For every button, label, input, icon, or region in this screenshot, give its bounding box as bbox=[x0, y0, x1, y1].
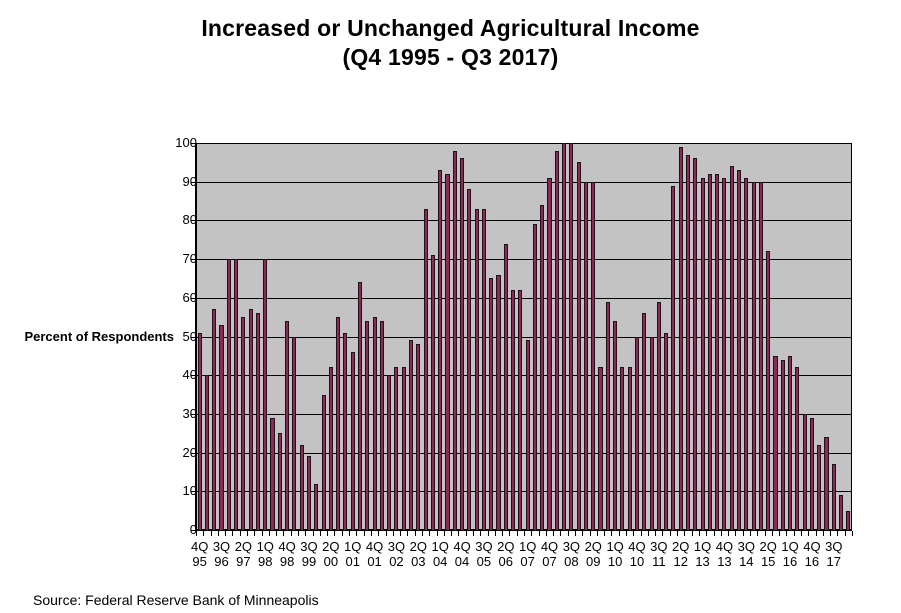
bar bbox=[424, 209, 428, 530]
chart-title-line-1: Increased or Unchanged Agricultural Inco… bbox=[0, 14, 901, 43]
x-tick bbox=[641, 531, 642, 536]
x-tick bbox=[386, 531, 387, 536]
x-tick bbox=[488, 531, 489, 536]
x-tick bbox=[502, 531, 503, 536]
bar bbox=[387, 375, 391, 530]
bar bbox=[518, 290, 522, 530]
x-tick bbox=[845, 531, 846, 536]
x-tick bbox=[692, 531, 693, 536]
x-tick bbox=[619, 531, 620, 536]
bar bbox=[431, 255, 435, 530]
x-tick bbox=[808, 531, 809, 536]
bar bbox=[839, 495, 843, 530]
bar bbox=[803, 414, 807, 530]
bar-series bbox=[196, 143, 852, 530]
bar bbox=[722, 178, 726, 530]
bar bbox=[358, 282, 362, 530]
bar bbox=[555, 151, 559, 530]
bar bbox=[824, 437, 828, 530]
x-tick bbox=[706, 531, 707, 536]
bar bbox=[453, 151, 457, 530]
x-tick bbox=[670, 531, 671, 536]
x-tick bbox=[422, 531, 423, 536]
x-tick bbox=[334, 531, 335, 536]
x-tick bbox=[568, 531, 569, 536]
bar bbox=[380, 321, 384, 530]
bar bbox=[394, 367, 398, 530]
x-tick bbox=[400, 531, 401, 536]
x-tick bbox=[509, 531, 510, 536]
bar bbox=[489, 278, 493, 530]
x-tick bbox=[305, 531, 306, 536]
bar bbox=[496, 275, 500, 530]
x-tick bbox=[247, 531, 248, 536]
y-tick-label-60: 60 bbox=[137, 291, 197, 304]
x-tick bbox=[539, 531, 540, 536]
bar bbox=[584, 182, 588, 530]
x-tick bbox=[437, 531, 438, 536]
chart-title-line-2: (Q4 1995 - Q3 2017) bbox=[0, 43, 901, 72]
bar bbox=[278, 433, 282, 530]
x-tick bbox=[211, 531, 212, 536]
bar bbox=[198, 333, 202, 530]
bar bbox=[773, 356, 777, 530]
x-tick bbox=[823, 531, 824, 536]
bar bbox=[533, 224, 537, 530]
x-tick bbox=[560, 531, 561, 536]
y-tick-label-70: 70 bbox=[137, 252, 197, 265]
x-tick bbox=[254, 531, 255, 536]
bar bbox=[577, 162, 581, 530]
bar bbox=[752, 182, 756, 530]
bar bbox=[547, 178, 551, 530]
x-tick bbox=[714, 531, 715, 536]
bar bbox=[336, 317, 340, 530]
bar bbox=[679, 147, 683, 530]
x-tick bbox=[313, 531, 314, 536]
x-tick bbox=[837, 531, 838, 536]
x-tick bbox=[298, 531, 299, 536]
bar bbox=[664, 333, 668, 530]
x-tick bbox=[765, 531, 766, 536]
bar bbox=[445, 174, 449, 530]
bar bbox=[701, 178, 705, 530]
x-tick bbox=[531, 531, 532, 536]
x-tick bbox=[451, 531, 452, 536]
bar bbox=[526, 340, 530, 530]
bar bbox=[249, 309, 253, 530]
bar bbox=[285, 321, 289, 530]
x-tick bbox=[553, 531, 554, 536]
bar bbox=[307, 456, 311, 530]
x-tick bbox=[407, 531, 408, 536]
x-tick bbox=[378, 531, 379, 536]
y-tick-label-10: 10 bbox=[137, 484, 197, 497]
bar bbox=[744, 178, 748, 530]
x-tick bbox=[626, 531, 627, 536]
x-tick bbox=[393, 531, 394, 536]
x-tick bbox=[356, 531, 357, 536]
x-label-quarter: 3Q bbox=[814, 539, 854, 554]
bar bbox=[314, 484, 318, 530]
bar bbox=[322, 395, 326, 530]
chart-title: Increased or Unchanged Agricultural Inco… bbox=[0, 14, 901, 72]
bar bbox=[628, 367, 632, 530]
chart-plot-area: 0102030405060708090100 4Q953Q962Q971Q984… bbox=[196, 143, 852, 530]
x-tick bbox=[728, 531, 729, 536]
bar bbox=[817, 445, 821, 530]
x-tick bbox=[283, 531, 284, 536]
bar bbox=[402, 367, 406, 530]
bar bbox=[373, 317, 377, 530]
x-tick bbox=[444, 531, 445, 536]
bar bbox=[227, 259, 231, 530]
x-tick bbox=[371, 531, 372, 536]
x-tick bbox=[415, 531, 416, 536]
bar bbox=[606, 302, 610, 530]
bar bbox=[241, 317, 245, 530]
x-tick bbox=[196, 531, 197, 536]
x-tick bbox=[262, 531, 263, 536]
x-tick bbox=[648, 531, 649, 536]
x-tick bbox=[633, 531, 634, 536]
x-tick bbox=[232, 531, 233, 536]
bar bbox=[730, 166, 734, 530]
bar bbox=[671, 186, 675, 530]
x-tick bbox=[458, 531, 459, 536]
x-tick bbox=[830, 531, 831, 536]
bar bbox=[613, 321, 617, 530]
bar bbox=[351, 352, 355, 530]
bar bbox=[365, 321, 369, 530]
bar bbox=[657, 302, 661, 530]
bar bbox=[270, 418, 274, 530]
bar bbox=[205, 375, 209, 530]
bar bbox=[504, 244, 508, 530]
bar bbox=[846, 511, 850, 530]
bar bbox=[620, 367, 624, 530]
x-tick bbox=[517, 531, 518, 536]
y-tick-label-100: 100 bbox=[137, 136, 197, 149]
x-tick bbox=[772, 531, 773, 536]
x-tick bbox=[495, 531, 496, 536]
bar bbox=[686, 155, 690, 530]
x-tick bbox=[546, 531, 547, 536]
bar bbox=[467, 189, 471, 530]
x-tick bbox=[655, 531, 656, 536]
x-tick bbox=[801, 531, 802, 536]
x-tick bbox=[473, 531, 474, 536]
bar bbox=[781, 360, 785, 530]
x-tick bbox=[582, 531, 583, 536]
bar bbox=[715, 174, 719, 530]
x-tick bbox=[743, 531, 744, 536]
y-tick-label-90: 90 bbox=[137, 175, 197, 188]
x-tick bbox=[575, 531, 576, 536]
bar bbox=[708, 174, 712, 530]
bar bbox=[438, 170, 442, 530]
bar bbox=[343, 333, 347, 530]
bar bbox=[635, 337, 639, 531]
x-tick bbox=[677, 531, 678, 536]
x-tick bbox=[735, 531, 736, 536]
x-tick bbox=[320, 531, 321, 536]
x-tick bbox=[203, 531, 204, 536]
x-tick bbox=[684, 531, 685, 536]
bar bbox=[263, 259, 267, 530]
bar bbox=[409, 340, 413, 530]
x-tick bbox=[364, 531, 365, 536]
x-tick bbox=[240, 531, 241, 536]
bar bbox=[642, 313, 646, 530]
x-tick bbox=[524, 531, 525, 536]
bar bbox=[416, 344, 420, 530]
x-tick bbox=[786, 531, 787, 536]
x-tick bbox=[779, 531, 780, 536]
x-tick bbox=[816, 531, 817, 536]
bar bbox=[569, 143, 573, 530]
x-tick bbox=[604, 531, 605, 536]
bar bbox=[562, 143, 566, 530]
bar bbox=[329, 367, 333, 530]
x-tick bbox=[699, 531, 700, 536]
bar bbox=[737, 170, 741, 530]
x-tick bbox=[342, 531, 343, 536]
bar bbox=[650, 337, 654, 531]
bar bbox=[256, 313, 260, 530]
x-tick bbox=[590, 531, 591, 536]
y-tick-label-80: 80 bbox=[137, 213, 197, 226]
x-tick bbox=[218, 531, 219, 536]
x-tick bbox=[466, 531, 467, 536]
bar bbox=[693, 158, 697, 530]
x-tick bbox=[757, 531, 758, 536]
bar bbox=[591, 182, 595, 530]
x-tick bbox=[611, 531, 612, 536]
x-tick bbox=[225, 531, 226, 536]
bar bbox=[540, 205, 544, 530]
x-tick bbox=[327, 531, 328, 536]
bar bbox=[212, 309, 216, 530]
bar bbox=[482, 209, 486, 530]
bar bbox=[234, 259, 238, 530]
y-tick-label-50: 50 bbox=[137, 330, 197, 343]
bar bbox=[292, 337, 296, 531]
x-tick bbox=[429, 531, 430, 536]
bar bbox=[759, 182, 763, 530]
x-tick bbox=[750, 531, 751, 536]
bar bbox=[300, 445, 304, 530]
x-tick bbox=[480, 531, 481, 536]
bar bbox=[460, 158, 464, 530]
bar bbox=[832, 464, 836, 530]
x-tick bbox=[662, 531, 663, 536]
bar bbox=[788, 356, 792, 530]
x-tick bbox=[276, 531, 277, 536]
x-tick bbox=[852, 531, 853, 536]
bar bbox=[219, 325, 223, 530]
y-tick-label-20: 20 bbox=[137, 446, 197, 459]
bar bbox=[810, 418, 814, 530]
bar bbox=[766, 251, 770, 530]
bar bbox=[795, 367, 799, 530]
x-tick-label-3Q17: 3Q17 bbox=[814, 539, 854, 569]
bar bbox=[511, 290, 515, 530]
bar bbox=[475, 209, 479, 530]
bar bbox=[598, 367, 602, 530]
x-tick bbox=[291, 531, 292, 536]
y-tick-label-30: 30 bbox=[137, 407, 197, 420]
x-tick bbox=[721, 531, 722, 536]
y-tick-label-40: 40 bbox=[137, 368, 197, 381]
x-label-year: 17 bbox=[814, 554, 854, 569]
x-tick bbox=[269, 531, 270, 536]
source-note: Source: Federal Reserve Bank of Minneapo… bbox=[33, 592, 319, 608]
y-tick-label-0: 0 bbox=[137, 523, 197, 536]
x-tick bbox=[597, 531, 598, 536]
x-tick bbox=[794, 531, 795, 536]
x-tick bbox=[349, 531, 350, 536]
